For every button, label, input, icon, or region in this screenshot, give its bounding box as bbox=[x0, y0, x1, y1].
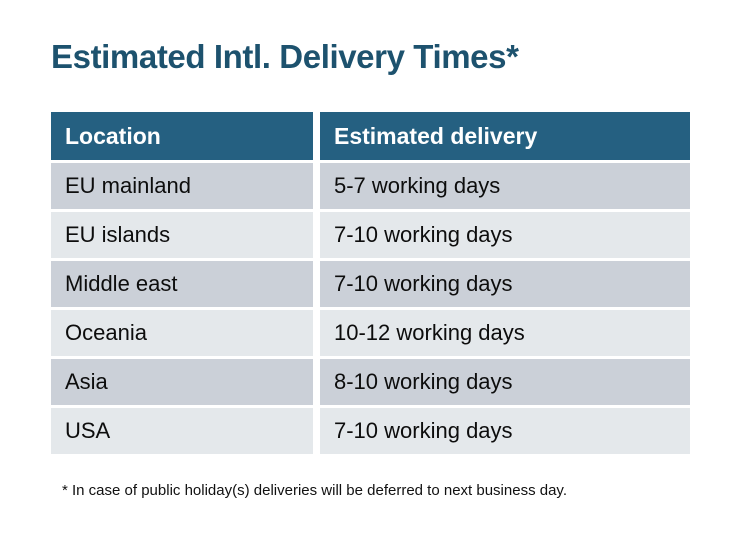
column-divider bbox=[313, 408, 320, 454]
cell-delivery: 8-10 working days bbox=[320, 359, 690, 405]
table-header-row: Location Estimated delivery bbox=[51, 112, 690, 160]
delivery-times-table: Location Estimated delivery EU mainland … bbox=[51, 112, 690, 454]
delivery-times-page: Estimated Intl. Delivery Times* Location… bbox=[0, 0, 745, 536]
column-divider bbox=[313, 310, 320, 356]
column-divider bbox=[313, 112, 320, 160]
cell-location: EU islands bbox=[51, 212, 313, 258]
cell-delivery: 7-10 working days bbox=[320, 408, 690, 454]
column-divider bbox=[313, 163, 320, 209]
table-row: EU mainland 5-7 working days bbox=[51, 163, 690, 209]
table-row: Oceania 10-12 working days bbox=[51, 310, 690, 356]
cell-location: Asia bbox=[51, 359, 313, 405]
cell-delivery: 7-10 working days bbox=[320, 261, 690, 307]
cell-location: Oceania bbox=[51, 310, 313, 356]
column-divider bbox=[313, 212, 320, 258]
cell-location: EU mainland bbox=[51, 163, 313, 209]
footnote: * In case of public holiday(s) deliverie… bbox=[62, 481, 567, 501]
cell-location: USA bbox=[51, 408, 313, 454]
table-row: Asia 8-10 working days bbox=[51, 359, 690, 405]
cell-delivery: 7-10 working days bbox=[320, 212, 690, 258]
table-row: Middle east 7-10 working days bbox=[51, 261, 690, 307]
cell-delivery: 5-7 working days bbox=[320, 163, 690, 209]
cell-location: Middle east bbox=[51, 261, 313, 307]
cell-delivery: 10-12 working days bbox=[320, 310, 690, 356]
table-row: USA 7-10 working days bbox=[51, 408, 690, 454]
page-title: Estimated Intl. Delivery Times* bbox=[51, 36, 519, 78]
column-header-estimated-delivery: Estimated delivery bbox=[320, 112, 690, 160]
column-divider bbox=[313, 359, 320, 405]
table-row: EU islands 7-10 working days bbox=[51, 212, 690, 258]
column-divider bbox=[313, 261, 320, 307]
column-header-location: Location bbox=[51, 112, 313, 160]
